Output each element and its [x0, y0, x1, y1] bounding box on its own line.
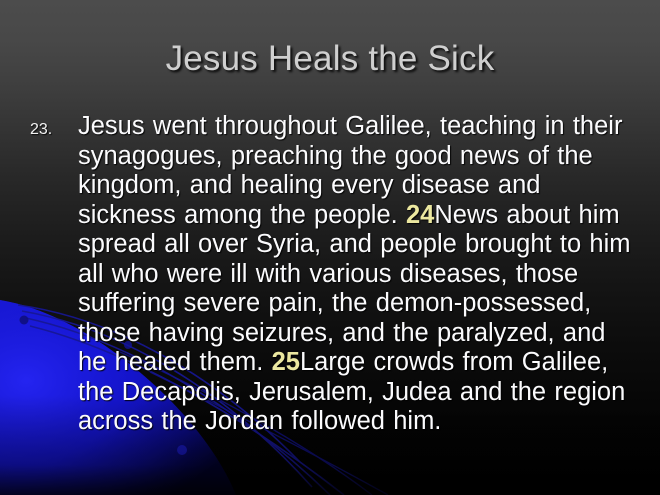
slide-title: Jesus Heals the Sick — [0, 39, 660, 79]
verse-number-25: 25 — [272, 348, 300, 376]
slide-body: 23. Jesus went throughout Galilee, teach… — [30, 112, 638, 437]
accent-dot — [177, 445, 187, 455]
presentation-slide: Jesus Heals the Sick 23. Jesus went thro… — [0, 0, 660, 495]
accent-dot — [20, 316, 29, 325]
list-number-marker: 23. — [30, 112, 78, 145]
verse-number-24: 24 — [406, 201, 434, 229]
scripture-text: Jesus went throughout Galilee, teaching … — [78, 112, 638, 437]
